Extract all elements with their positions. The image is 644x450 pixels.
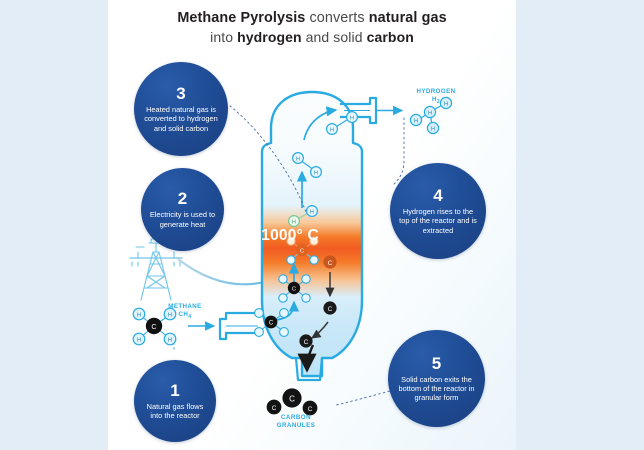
hydrogen-label-formula: H2 xyxy=(432,96,440,103)
svg-text:C: C xyxy=(269,321,274,327)
step-1-number: 1 xyxy=(170,382,179,400)
svg-text:H: H xyxy=(350,116,354,122)
svg-text:C: C xyxy=(272,405,277,412)
hydrogen-atom: H xyxy=(133,308,145,320)
methane-inlet-pipe xyxy=(220,313,258,339)
carbon-atom-falling: C xyxy=(299,334,312,347)
svg-text:C: C xyxy=(328,260,333,267)
svg-text:H: H xyxy=(330,128,334,134)
methane-label-formula: CH4 xyxy=(179,311,192,318)
step-3-text: Heated natural gas is converted to hydro… xyxy=(134,105,228,133)
leader-step5 xyxy=(336,390,394,405)
svg-text:H: H xyxy=(137,313,141,319)
svg-text:C: C xyxy=(304,339,309,346)
svg-text:H: H xyxy=(314,171,318,177)
hydrogen-atom: H xyxy=(164,333,176,345)
step-2-number: 2 xyxy=(178,190,187,208)
methane-label: METHANE CH4 xyxy=(155,303,215,321)
svg-text:H: H xyxy=(292,220,296,226)
step-circle-5[interactable]: 5 Solid carbon exits the bottom of the r… xyxy=(388,330,485,427)
hydrogen-atom: H xyxy=(133,333,145,345)
methane-label-name: METHANE xyxy=(168,303,201,310)
svg-text:H: H xyxy=(428,111,432,117)
svg-text:H: H xyxy=(137,338,141,344)
carbon-atom-cooling: C xyxy=(323,301,336,314)
svg-text:C: C xyxy=(292,287,296,293)
svg-text:C: C xyxy=(300,249,304,255)
hydrogen-label-name: HYDROGEN xyxy=(417,88,456,95)
carbon-label-line-2: GRANULES xyxy=(277,422,316,429)
step-circle-1[interactable]: 1 Natural gas flows into the reactor xyxy=(134,360,216,442)
hydrogen-atom: H xyxy=(410,114,421,125)
infographic-canvas: Methane Pyrolysis converts natural gas i… xyxy=(0,0,644,450)
hydrogen-label: HYDROGEN H2 xyxy=(406,88,466,106)
step-2-text: Electricity is used to generate heat xyxy=(141,210,224,228)
carbon-granules-label: CARBON GRANULES xyxy=(266,414,326,429)
temperature-label: >1000° C xyxy=(252,227,372,245)
svg-text:H: H xyxy=(168,338,172,344)
svg-text:C: C xyxy=(328,306,333,313)
hydrogen-atom: H xyxy=(427,122,438,133)
svg-text:H: H xyxy=(296,157,300,163)
step-circle-4[interactable]: 4 Hydrogen rises to the top of the react… xyxy=(390,163,486,259)
svg-text:H: H xyxy=(310,210,314,216)
step-4-text: Hydrogen rises to the top of the reactor… xyxy=(390,207,486,235)
carbon-atom-hot: C xyxy=(323,255,336,268)
carbon-label-line-1: CARBON xyxy=(281,414,311,421)
step-1-text: Natural gas flows into the reactor xyxy=(134,402,216,420)
step-5-text: Solid carbon exits the bottom of the rea… xyxy=(388,375,485,403)
svg-text:C: C xyxy=(151,322,156,331)
step-circle-3[interactable]: 3 Heated natural gas is converted to hyd… xyxy=(134,62,228,156)
step-3-number: 3 xyxy=(176,85,185,103)
svg-text:H: H xyxy=(431,127,435,133)
step-4-number: 4 xyxy=(433,187,442,205)
step-circle-2[interactable]: 2 Electricity is used to generate heat xyxy=(141,168,224,251)
hydrogen-atom: H xyxy=(424,106,435,117)
carbon-granules-cluster: C C C xyxy=(267,388,318,415)
svg-text:C: C xyxy=(308,406,313,413)
svg-text:C: C xyxy=(289,394,295,403)
step-5-number: 5 xyxy=(432,355,441,373)
leader-step4 xyxy=(394,118,404,184)
svg-text:H: H xyxy=(414,119,418,125)
